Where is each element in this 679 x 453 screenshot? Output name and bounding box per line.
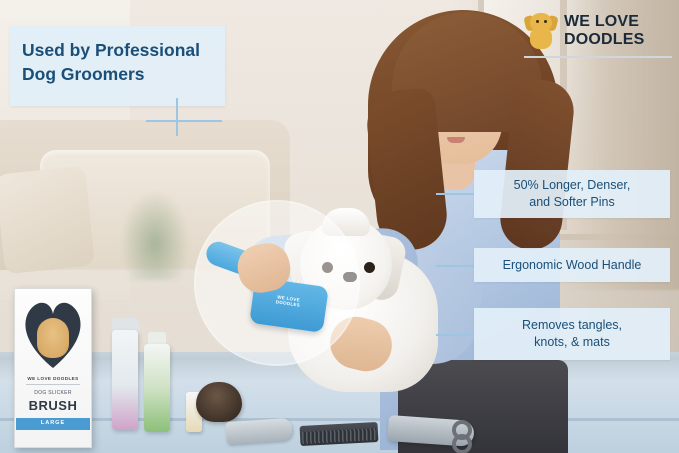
callout-leader-1 bbox=[436, 193, 474, 195]
doodle-dog-icon bbox=[524, 11, 558, 51]
spray-bottle bbox=[112, 330, 138, 430]
logo-dog-eye-left bbox=[536, 20, 539, 23]
logo-dog-eye-right bbox=[544, 20, 547, 23]
callout-3: Removes tangles, knots, & mats bbox=[474, 308, 670, 360]
callout-1-line-1: 50% Longer, Denser, bbox=[514, 177, 631, 194]
brand-wordmark-line-1: WE LOVE bbox=[564, 13, 645, 31]
scissors bbox=[225, 418, 292, 445]
callout-leader-2 bbox=[436, 265, 474, 267]
pillow bbox=[0, 166, 95, 275]
logo-dog-body bbox=[530, 28, 552, 49]
callout-3-line-1: Removes tangles, bbox=[522, 317, 622, 334]
package-title: BRUSH bbox=[16, 398, 90, 413]
callout-2: Ergonomic Wood Handle bbox=[474, 248, 670, 282]
brand-wordmark: WE LOVE DOODLES bbox=[564, 13, 645, 49]
headline: Used by Professional Dog Groomers bbox=[22, 38, 222, 86]
headline-bracket-horizontal bbox=[146, 120, 222, 122]
round-pin-brush bbox=[196, 382, 242, 422]
headline-bracket-vertical bbox=[176, 98, 178, 136]
shears-ring-lower bbox=[452, 434, 472, 453]
headline-line-1: Used by Professional bbox=[22, 38, 222, 62]
dog-eye-right bbox=[364, 262, 375, 273]
green-bottle bbox=[144, 344, 170, 432]
callout-1: 50% Longer, Denser, and Softer Pins bbox=[474, 170, 670, 218]
plant bbox=[120, 190, 190, 280]
package-subtitle: DOG SLICKER bbox=[16, 390, 90, 396]
puppy-photo bbox=[37, 318, 69, 358]
brand-wordmark-line-2: DOODLES bbox=[564, 31, 645, 49]
callout-leader-3 bbox=[436, 334, 474, 336]
callout-2-line-1: Ergonomic Wood Handle bbox=[503, 257, 642, 274]
package-divider bbox=[26, 384, 80, 385]
package-size: LARGE bbox=[16, 420, 90, 426]
package-brand: WE LOVE DOODLES bbox=[16, 376, 90, 381]
brand-logo: WE LOVE DOODLES bbox=[524, 8, 672, 54]
callout-1-line-2: and Softer Pins bbox=[514, 194, 631, 211]
headline-line-2: Dog Groomers bbox=[22, 62, 222, 86]
callout-3-line-2: knots, & mats bbox=[522, 334, 622, 351]
product-image: WE LOVE DOODLES WE LOVE DOODLES DOG SLIC… bbox=[0, 0, 679, 453]
table-seam bbox=[0, 418, 679, 421]
logo-underline bbox=[524, 56, 672, 58]
